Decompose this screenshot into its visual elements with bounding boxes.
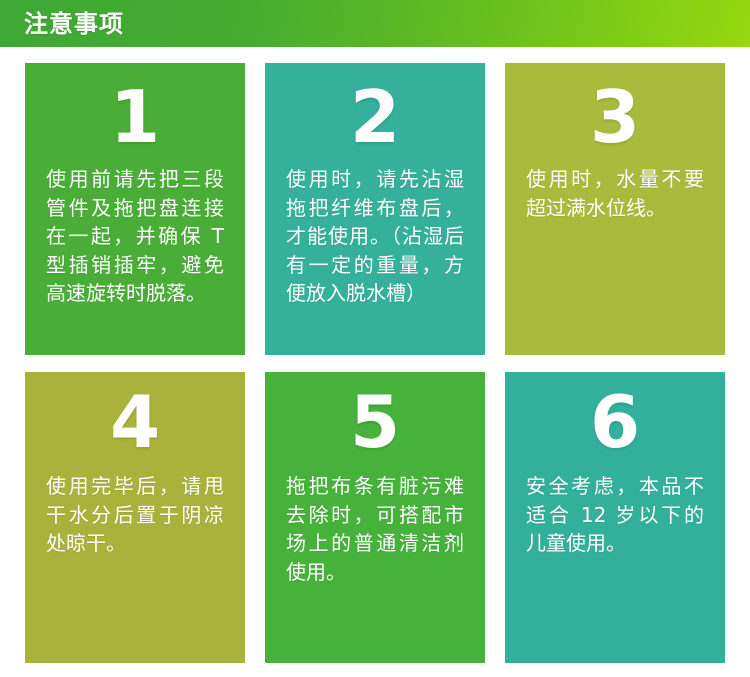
notice-card-text: 拖把布条有脏污难去除时，可搭配市场上的普通清洁剂使用。: [286, 472, 464, 586]
notice-card-text: 使用时，请先沾湿拖把纤维布盘后，才能使用。（沾湿后有一定的重量，方便放入脱水槽）: [286, 165, 464, 308]
notice-card-text: 使用前请先把三段管件及拖把盘连接在一起，并确保 T 型插销插牢，避免高速旋转时脱…: [46, 165, 224, 308]
notice-card-text: 安全考虑，本品不适合 12 岁以下的儿童使用。: [526, 472, 704, 558]
notice-card-number: 3: [505, 77, 725, 157]
notice-card-6: 6 安全考虑，本品不适合 12 岁以下的儿童使用。: [505, 372, 725, 663]
notice-card-3: 3 使用时，水量不要超过满水位线。: [505, 63, 725, 355]
notice-card-5: 5 拖把布条有脏污难去除时，可搭配市场上的普通清洁剂使用。: [265, 372, 485, 663]
notice-card-2: 2 使用时，请先沾湿拖把纤维布盘后，才能使用。（沾湿后有一定的重量，方便放入脱水…: [265, 63, 485, 355]
notice-card-number: 1: [25, 77, 245, 157]
notice-card-number: 2: [265, 77, 485, 157]
notice-card-4: 4 使用完毕后，请甩干水分后置于阴凉处晾干。: [25, 372, 245, 663]
notice-card-text: 使用完毕后，请甩干水分后置于阴凉处晾干。: [46, 472, 224, 558]
notice-card-number: 5: [265, 382, 485, 462]
page-title: 注意事项: [24, 9, 124, 39]
notice-card-grid: 1 使用前请先把三段管件及拖把盘连接在一起，并确保 T 型插销插牢，避免高速旋转…: [25, 63, 725, 663]
notice-card-1: 1 使用前请先把三段管件及拖把盘连接在一起，并确保 T 型插销插牢，避免高速旋转…: [25, 63, 245, 355]
notice-card-text: 使用时，水量不要超过满水位线。: [526, 165, 704, 222]
notice-card-number: 4: [25, 382, 245, 462]
page-header-bar: 注意事项: [0, 0, 750, 47]
notice-card-number: 6: [505, 382, 725, 462]
